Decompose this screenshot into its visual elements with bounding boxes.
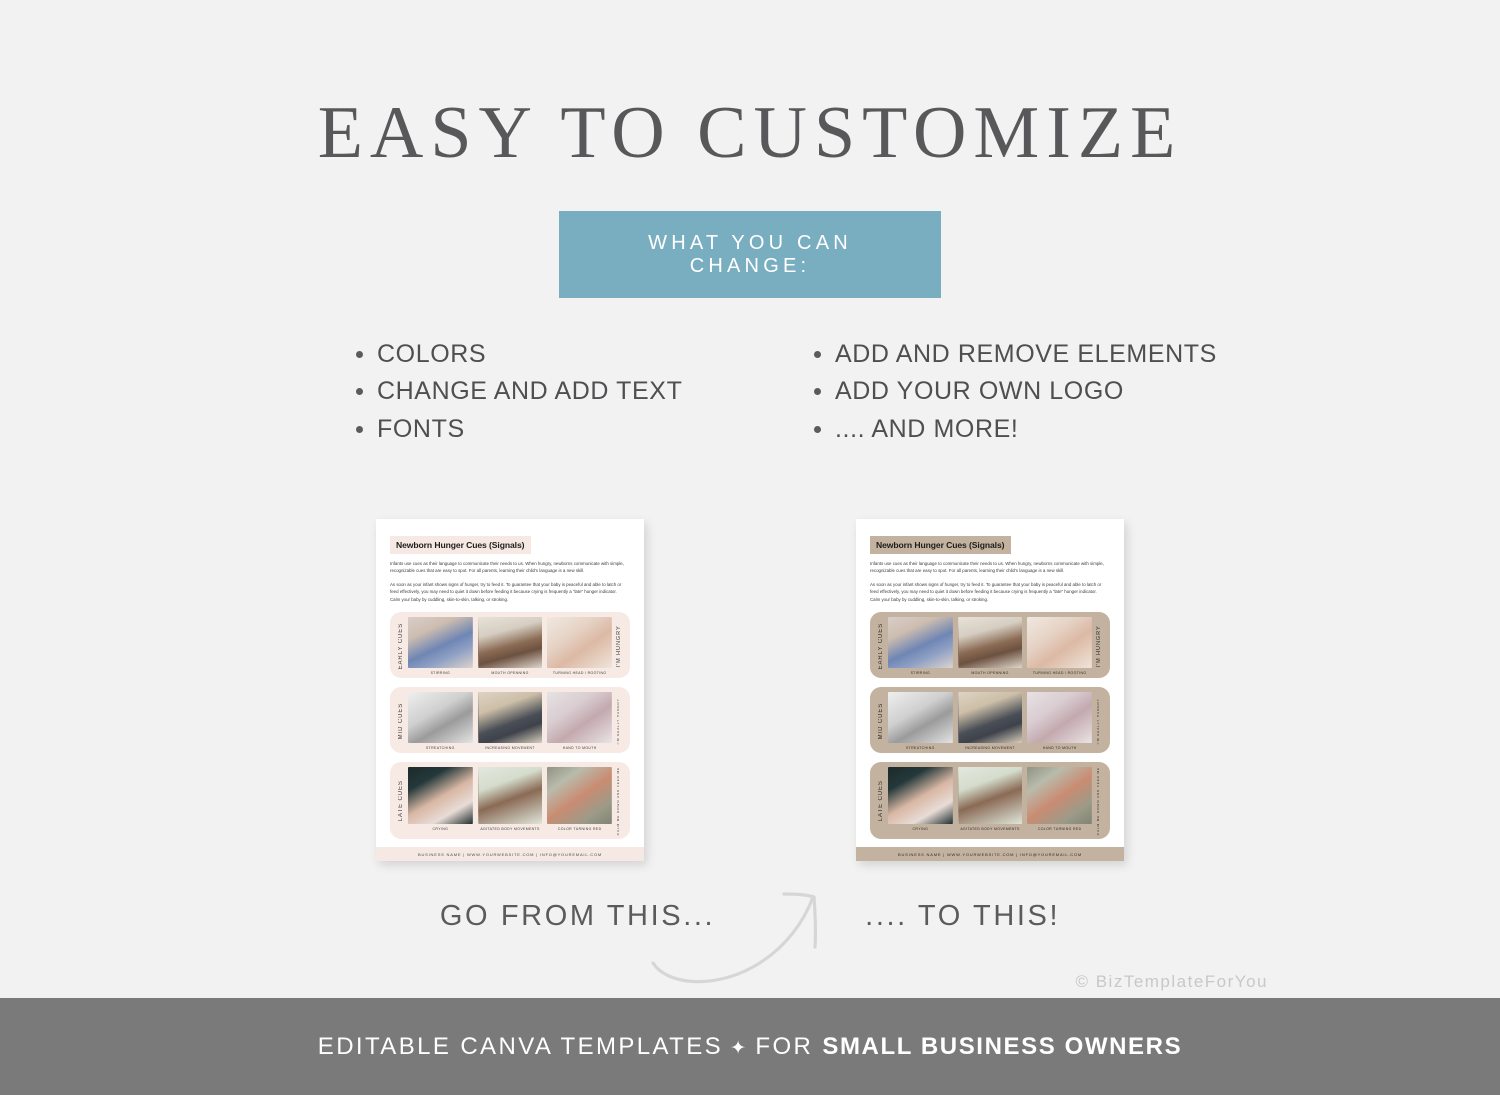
cue-cell: COLOR TURNING RED	[1027, 767, 1092, 835]
baby-photo-turning-head	[1027, 617, 1092, 668]
cue-row-right-label: I'M REALLY HUNGRY	[612, 692, 626, 750]
cue-cell: TURNING HEAD / ROOTING	[547, 617, 612, 675]
cue-cell: MOUTH OPENNING	[958, 617, 1023, 675]
cue-row-left-label: EARLY CUES	[394, 617, 408, 675]
cue-cell: MOUTH OPENNING	[478, 617, 543, 675]
baby-photo-crying	[888, 767, 953, 824]
template-previews: Newborn Hunger Cues (Signals) Infants us…	[0, 519, 1500, 861]
baby-photo-streatching	[888, 692, 953, 743]
cue-row-left-label: EARLY CUES	[874, 617, 888, 675]
cue-cell: CRYING	[408, 767, 473, 835]
after-label: .... TO THIS!	[865, 900, 1060, 933]
baby-photo-streatching	[408, 692, 473, 743]
cue-rows: EARLY CUES STIRRING MOUTH OPENNING TURNI…	[390, 612, 630, 839]
cue-row-right-label: I'M HUNGRY	[1092, 617, 1106, 675]
cue-cell: AGITATED BODY MOVEMENTS	[958, 767, 1023, 835]
list-item: ADD YOUR OWN LOGO	[814, 377, 1144, 406]
bullet-dot-icon	[356, 426, 363, 433]
cue-caption: AGITATED BODY MOVEMENTS	[958, 827, 1023, 831]
baby-photo-agitated-body-movements	[958, 767, 1023, 824]
cue-caption: INCREASING MOVEMENT	[958, 746, 1023, 750]
cue-caption: HAND TO MOUTH	[547, 746, 612, 750]
baby-photo-agitated-body-movements	[478, 767, 543, 824]
list-item-label: CHANGE AND ADD TEXT	[377, 377, 682, 406]
sheet-paragraph-1: Infants use cues as their language to co…	[870, 560, 1110, 574]
cue-cell: INCREASING MOVEMENT	[958, 692, 1023, 750]
cue-row-early: EARLY CUES STIRRING MOUTH OPENNING TURNI…	[390, 612, 630, 678]
list-item: CHANGE AND ADD TEXT	[356, 377, 686, 406]
baby-photo-color-turning-red	[1027, 767, 1092, 824]
cue-row-right-label: CALM ME DOWN AND FEED ME	[1092, 767, 1106, 835]
cue-row-early: EARLY CUES STIRRING MOUTH OPENNING TURNI…	[870, 612, 1110, 678]
feature-lists: COLORS CHANGE AND ADD TEXT FONTS ADD AND…	[0, 340, 1500, 453]
cue-caption: STREATCHING	[888, 746, 953, 750]
cue-cells: CRYING AGITATED BODY MOVEMENTS COLOR TUR…	[408, 767, 612, 835]
cue-cell: STIRRING	[408, 617, 473, 675]
baby-photo-hand-to-mouth	[1027, 692, 1092, 743]
cue-row-right-label: CALM ME DOWN AND FEED ME	[612, 767, 626, 835]
diamond-icon: ✦	[730, 1038, 748, 1059]
sheet-paragraph-1: Infants use cues as their language to co…	[390, 560, 630, 574]
before-label: GO FROM THIS...	[440, 900, 715, 933]
bullet-dot-icon	[356, 388, 363, 395]
bottom-bar-text-for: FOR	[755, 1033, 813, 1060]
cue-row-left-label: LATE CUES	[874, 767, 888, 835]
baby-photo-crying	[408, 767, 473, 824]
baby-photo-mouth-openning	[478, 617, 543, 668]
cue-cell: HAND TO MOUTH	[1027, 692, 1092, 750]
cue-cell: COLOR TURNING RED	[547, 767, 612, 835]
template-preview-before[interactable]: Newborn Hunger Cues (Signals) Infants us…	[376, 519, 644, 861]
bottom-bar: EDITABLE CANVA TEMPLATES✦FOR SMALL BUSIN…	[0, 998, 1500, 1095]
baby-photo-increasing-movement	[958, 692, 1023, 743]
list-item-label: .... AND MORE!	[835, 415, 1018, 444]
cue-row-mid: MID CUES STREATCHING INCREASING MOVEMENT…	[870, 687, 1110, 753]
banner-wrapper: WHAT YOU CAN CHANGE:	[0, 211, 1500, 298]
bullet-dot-icon	[814, 351, 821, 358]
sheet-footer: BUSINESS NAME | WWW.YOURWEBSITE.COM | IN…	[376, 847, 644, 861]
cue-caption: INCREASING MOVEMENT	[478, 746, 543, 750]
cue-caption: HAND TO MOUTH	[1027, 746, 1092, 750]
cue-cells: CRYING AGITATED BODY MOVEMENTS COLOR TUR…	[888, 767, 1092, 835]
cue-row-left-label: MID CUES	[394, 692, 408, 750]
baby-photo-mouth-openning	[958, 617, 1023, 668]
cue-row-mid: MID CUES STREATCHING INCREASING MOVEMENT…	[390, 687, 630, 753]
cue-cell: INCREASING MOVEMENT	[478, 692, 543, 750]
list-item: COLORS	[356, 340, 686, 369]
bottom-bar-text: EDITABLE CANVA TEMPLATES✦FOR SMALL BUSIN…	[318, 1033, 1182, 1061]
sheet-paragraph-2: As soon as your infant shows signs of hu…	[390, 581, 630, 602]
baby-photo-stirring	[408, 617, 473, 668]
cue-caption: STREATCHING	[408, 746, 473, 750]
cue-caption: TURNING HEAD / ROOTING	[1027, 671, 1092, 675]
cue-row-left-label: LATE CUES	[394, 767, 408, 835]
cue-cell: STIRRING	[888, 617, 953, 675]
cue-cells: STIRRING MOUTH OPENNING TURNING HEAD / R…	[408, 617, 612, 675]
cue-caption: AGITATED BODY MOVEMENTS	[478, 827, 543, 831]
cue-cell: TURNING HEAD / ROOTING	[1027, 617, 1092, 675]
page-title: EASY TO CUSTOMIZE	[0, 95, 1500, 173]
feature-list-right: ADD AND REMOVE ELEMENTS ADD YOUR OWN LOG…	[814, 340, 1144, 453]
cue-rows: EARLY CUES STIRRING MOUTH OPENNING TURNI…	[870, 612, 1110, 839]
sheet-paragraph-2: As soon as your infant shows signs of hu…	[870, 581, 1110, 602]
watermark: © BizTemplateForYou	[1075, 972, 1268, 992]
cue-caption: MOUTH OPENNING	[958, 671, 1023, 675]
cue-cell: STREATCHING	[408, 692, 473, 750]
bottom-bar-text-bold: SMALL BUSINESS OWNERS	[822, 1033, 1182, 1060]
list-item: ADD AND REMOVE ELEMENTS	[814, 340, 1144, 369]
cue-row-late: LATE CUES CRYING AGITATED BODY MOVEMENTS…	[870, 762, 1110, 838]
cue-cell: HAND TO MOUTH	[547, 692, 612, 750]
list-item-label: ADD YOUR OWN LOGO	[835, 377, 1124, 406]
cue-row-late: LATE CUES CRYING AGITATED BODY MOVEMENTS…	[390, 762, 630, 838]
cue-caption: COLOR TURNING RED	[1027, 827, 1092, 831]
baby-photo-turning-head	[547, 617, 612, 668]
bullet-dot-icon	[814, 388, 821, 395]
template-preview-after[interactable]: Newborn Hunger Cues (Signals) Infants us…	[856, 519, 1124, 861]
what-you-can-change-banner: WHAT YOU CAN CHANGE:	[559, 211, 941, 298]
bottom-bar-text-plain: EDITABLE CANVA TEMPLATES	[318, 1033, 723, 1060]
list-item: FONTS	[356, 415, 686, 444]
cue-cells: STREATCHING INCREASING MOVEMENT HAND TO …	[888, 692, 1092, 750]
cue-cells: STREATCHING INCREASING MOVEMENT HAND TO …	[408, 692, 612, 750]
cue-caption: STIRRING	[408, 671, 473, 675]
cue-cells: STIRRING MOUTH OPENNING TURNING HEAD / R…	[888, 617, 1092, 675]
cue-caption: STIRRING	[888, 671, 953, 675]
baby-photo-increasing-movement	[478, 692, 543, 743]
cue-row-right-label: I'M REALLY HUNGRY	[1092, 692, 1106, 750]
cue-row-left-label: MID CUES	[874, 692, 888, 750]
baby-photo-stirring	[888, 617, 953, 668]
bullet-dot-icon	[356, 351, 363, 358]
sheet-title: Newborn Hunger Cues (Signals)	[390, 536, 531, 554]
cue-caption: COLOR TURNING RED	[547, 827, 612, 831]
baby-photo-color-turning-red	[547, 767, 612, 824]
compare-captions: GO FROM THIS... .... TO THIS!	[0, 900, 1500, 933]
cue-caption: CRYING	[888, 827, 953, 831]
cue-row-right-label: I'M HUNGRY	[612, 617, 626, 675]
sheet-footer: BUSINESS NAME | WWW.YOURWEBSITE.COM | IN…	[856, 847, 1124, 861]
baby-photo-hand-to-mouth	[547, 692, 612, 743]
cue-caption: TURNING HEAD / ROOTING	[547, 671, 612, 675]
list-item-label: FONTS	[377, 415, 465, 444]
sheet-title: Newborn Hunger Cues (Signals)	[870, 536, 1011, 554]
list-item-label: COLORS	[377, 340, 486, 369]
cue-cell: STREATCHING	[888, 692, 953, 750]
cue-caption: CRYING	[408, 827, 473, 831]
list-item: .... AND MORE!	[814, 415, 1144, 444]
cue-caption: MOUTH OPENNING	[478, 671, 543, 675]
feature-list-left: COLORS CHANGE AND ADD TEXT FONTS	[356, 340, 686, 453]
cue-cell: AGITATED BODY MOVEMENTS	[478, 767, 543, 835]
bullet-dot-icon	[814, 426, 821, 433]
list-item-label: ADD AND REMOVE ELEMENTS	[835, 340, 1217, 369]
cue-cell: CRYING	[888, 767, 953, 835]
